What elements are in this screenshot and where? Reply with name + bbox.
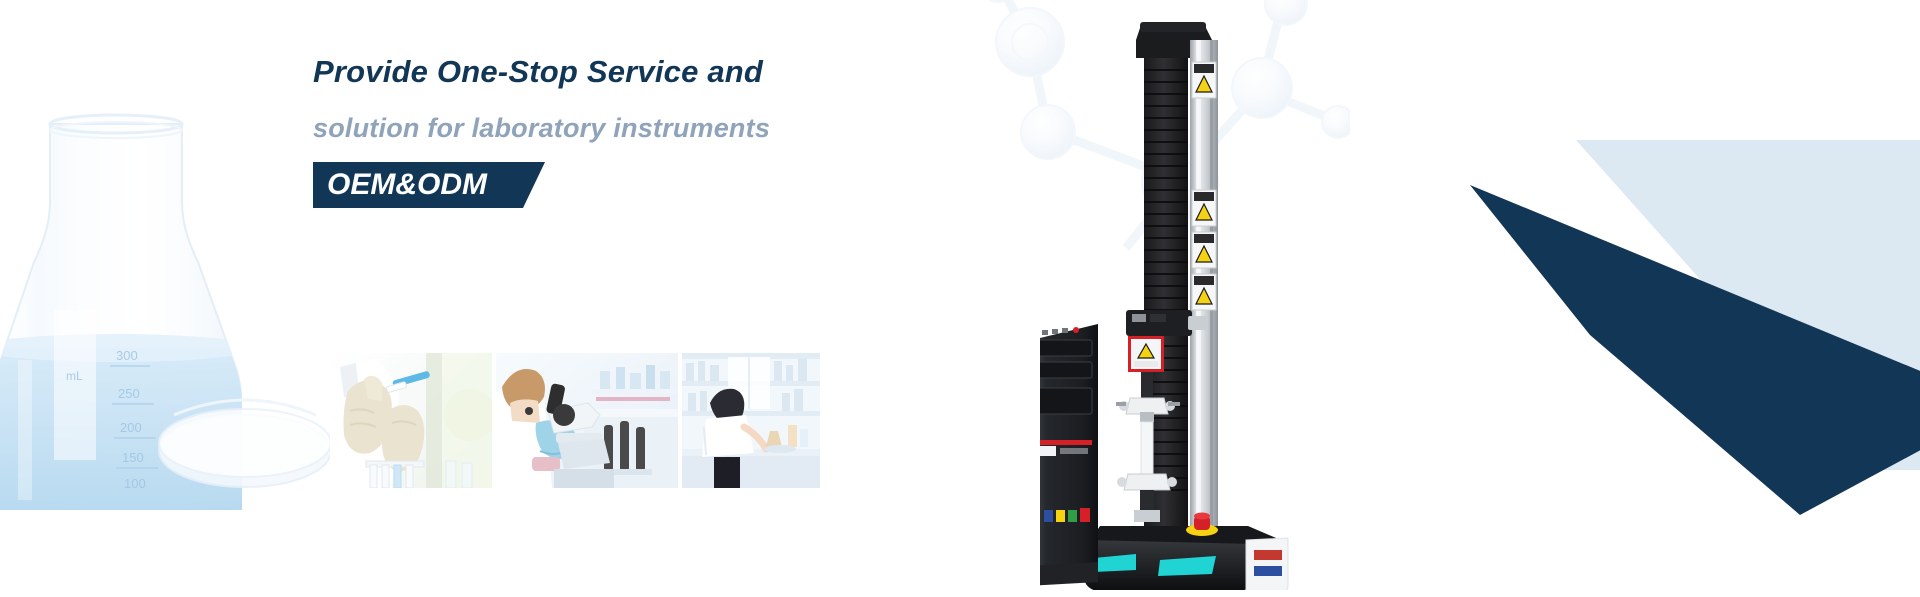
warning-labels xyxy=(1192,62,1216,310)
lab-photo-strip xyxy=(330,353,820,488)
headline-block: Provide One-Stop Service and solution fo… xyxy=(313,52,1073,208)
tower-badges xyxy=(1044,508,1090,522)
photo-pipetting[interactable] xyxy=(330,353,492,488)
base-accent-right xyxy=(1158,556,1216,576)
flask-graduation-300: 300 xyxy=(116,348,138,363)
equipment-group xyxy=(1040,10,1540,590)
badge-label: OEM&ODM xyxy=(313,162,509,208)
photo-lab-bench[interactable] xyxy=(682,353,820,488)
flask-graduation-100: 100 xyxy=(124,476,146,491)
erlenmeyer-flask: 300 250 200 150 100 mL xyxy=(0,110,242,510)
flask-graduation-150: 150 xyxy=(122,450,144,465)
emergency-stop-button xyxy=(1186,524,1218,536)
headline-line-2: solution for laboratory instruments xyxy=(313,108,1073,148)
flask-unit-label: mL xyxy=(66,369,83,383)
flask-graduation-250: 250 xyxy=(118,386,140,401)
photo-microscope[interactable] xyxy=(496,353,678,488)
base-accent-left xyxy=(1094,554,1136,572)
navy-arrow-shape xyxy=(1470,185,1920,515)
light-blue-wedge-shape xyxy=(1400,140,1920,470)
headline-line-1: Provide One-Stop Service and xyxy=(313,52,1073,92)
petri-dish xyxy=(150,355,340,495)
flask-graduation-200: 200 xyxy=(120,420,142,435)
oem-odm-badge[interactable]: OEM&ODM xyxy=(313,162,509,208)
banner-canvas: 300 250 200 150 100 mL Provide One-Stop … xyxy=(0,0,1920,597)
